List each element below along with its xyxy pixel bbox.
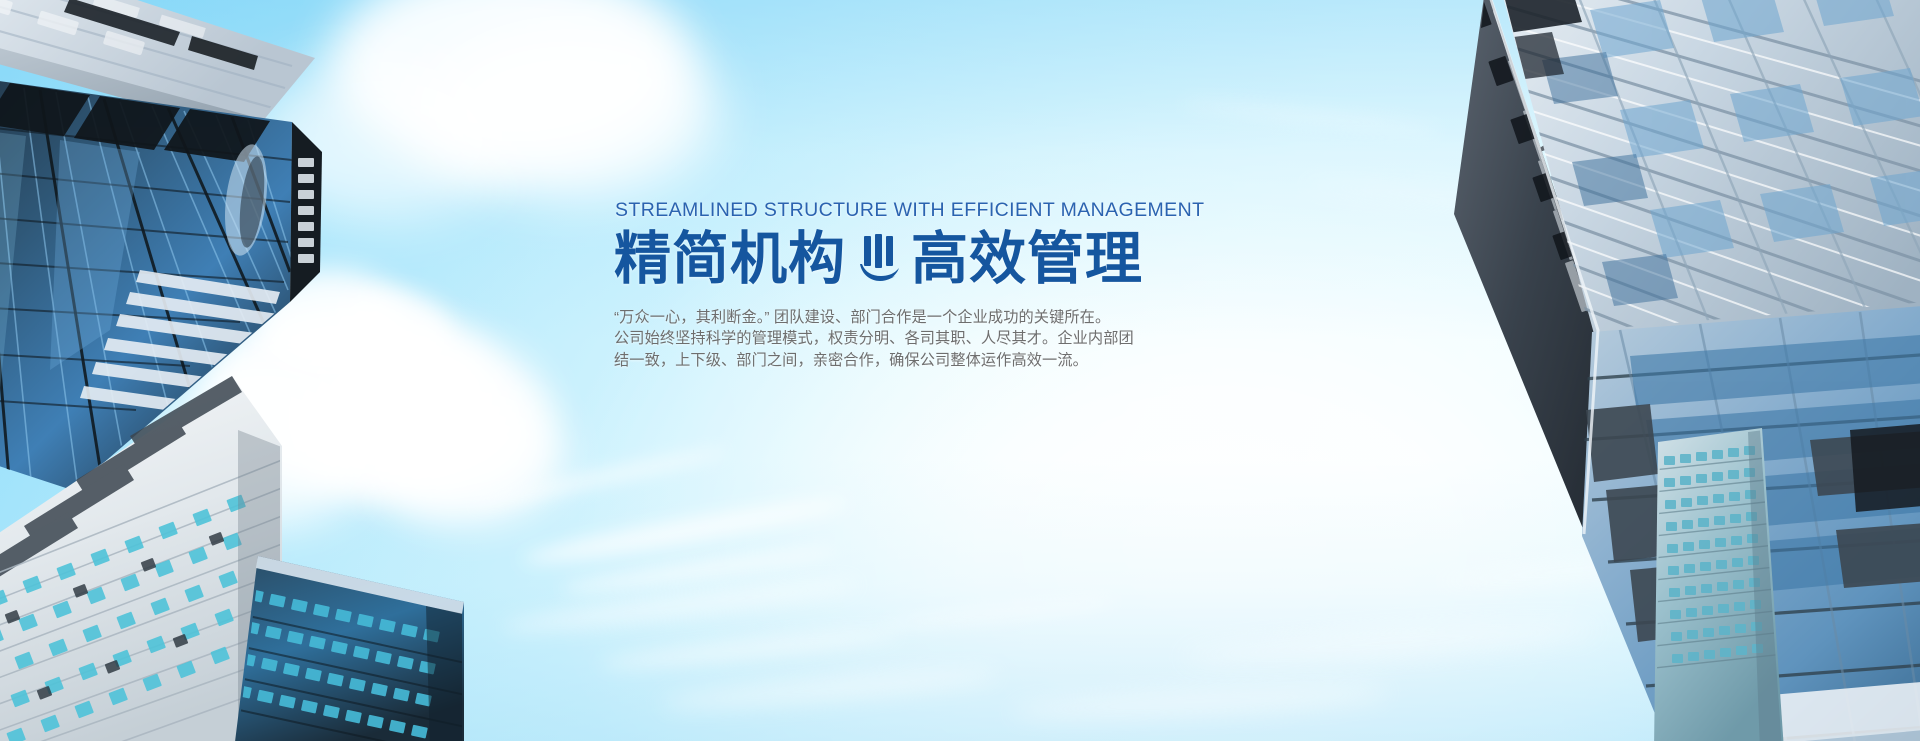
hero-banner: STREAMLINED STRUCTURE WITH EFFICIENT MAN… xyxy=(0,0,1920,741)
title-row: 精简机构 高效管理 xyxy=(614,225,1314,295)
body-line-3: 结一致，上下级、部门之间，亲密合作，确保公司整体运作高效一流。 xyxy=(614,350,1034,372)
company-swoosh-logo-icon xyxy=(858,234,902,286)
right-small-tower xyxy=(1640,420,1810,741)
english-tagline: STREAMLINED STRUCTURE WITH EFFICIENT MAN… xyxy=(615,200,1314,221)
chinese-title-right: 高效管理 xyxy=(911,225,1143,295)
mid-glass-slab xyxy=(230,500,490,741)
chinese-title-left: 精简机构 xyxy=(614,225,846,295)
right-glass-tower xyxy=(1290,0,1920,741)
body-line-1: “万众一心，其利断金。” 团队建设、部门合作是一个企业成功的关键所在。 xyxy=(614,307,1034,329)
body-paragraph: “万众一心，其利断金。” 团队建设、部门合作是一个企业成功的关键所在。 公司始终… xyxy=(614,307,1034,372)
hero-copy-block: STREAMLINED STRUCTURE WITH EFFICIENT MAN… xyxy=(614,200,1314,371)
body-line-2: 公司始终坚持科学的管理模式，权责分明、各司其职、人尽其才。企业内部团 xyxy=(614,328,1034,350)
